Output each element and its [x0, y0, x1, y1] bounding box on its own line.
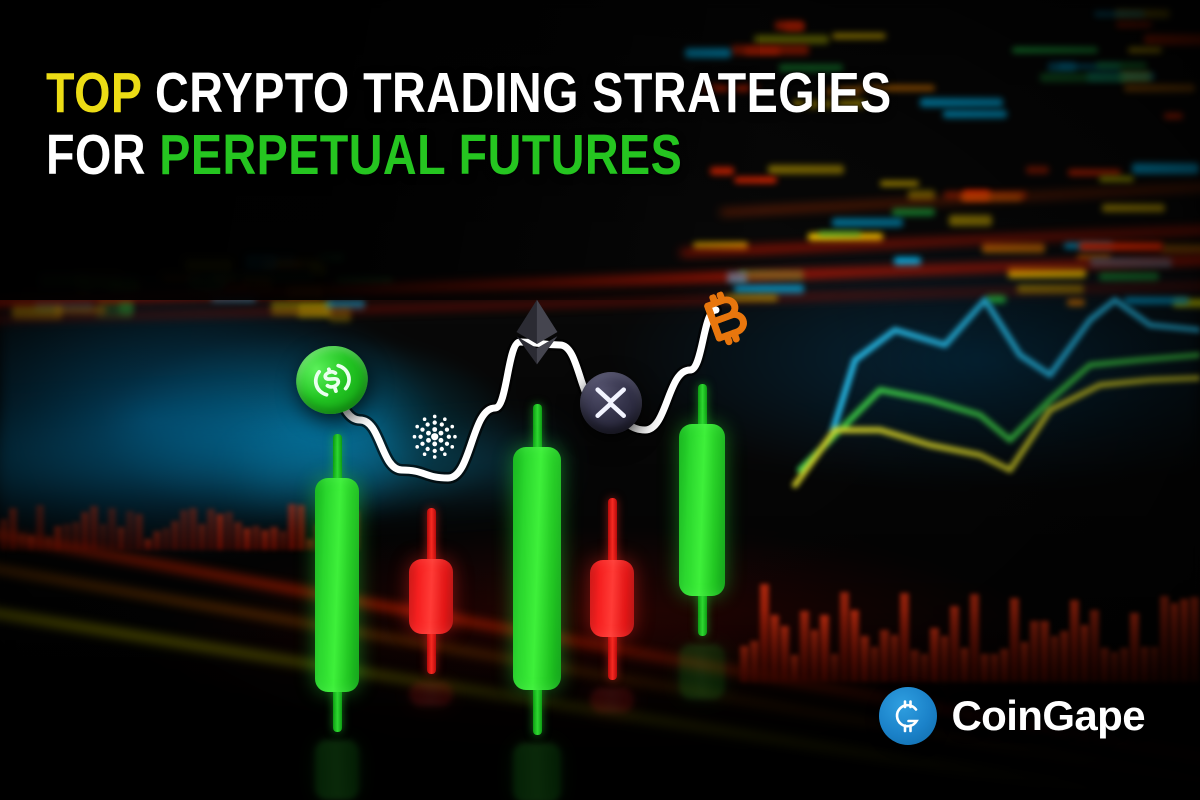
brand-name: CoinGape	[951, 692, 1145, 740]
cardano-coin-icon	[402, 404, 468, 470]
title-line-1: TOP CRYPTO TRADING STRATEGIES	[46, 62, 892, 124]
coingape-g-icon	[879, 687, 937, 745]
title-accent-top: TOP	[46, 61, 142, 125]
title-line-2-prefix: FOR	[46, 123, 146, 187]
banner-canvas: TOP CRYPTO TRADING STRATEGIES FOR PERPET…	[0, 0, 1200, 800]
title-line-1-rest: CRYPTO TRADING STRATEGIES	[155, 61, 892, 125]
usdc-symbol-glyph	[304, 353, 359, 407]
page-title: TOP CRYPTO TRADING STRATEGIES FOR PERPET…	[46, 62, 1077, 186]
xrp-coin-icon	[580, 372, 642, 434]
ethereum-symbol-glyph	[513, 298, 561, 366]
xrp-symbol-glyph	[589, 381, 632, 424]
title-line-2: FOR PERPETUAL FUTURES	[46, 124, 892, 186]
title-accent-perpetual-futures: PERPETUAL FUTURES	[159, 123, 682, 187]
ethereum-coin-icon	[491, 286, 583, 378]
cardano-symbol-glyph	[407, 409, 462, 464]
brand-logo[interactable]: CoinGape	[879, 687, 1145, 745]
bitcoin-symbol-glyph	[693, 286, 757, 357]
